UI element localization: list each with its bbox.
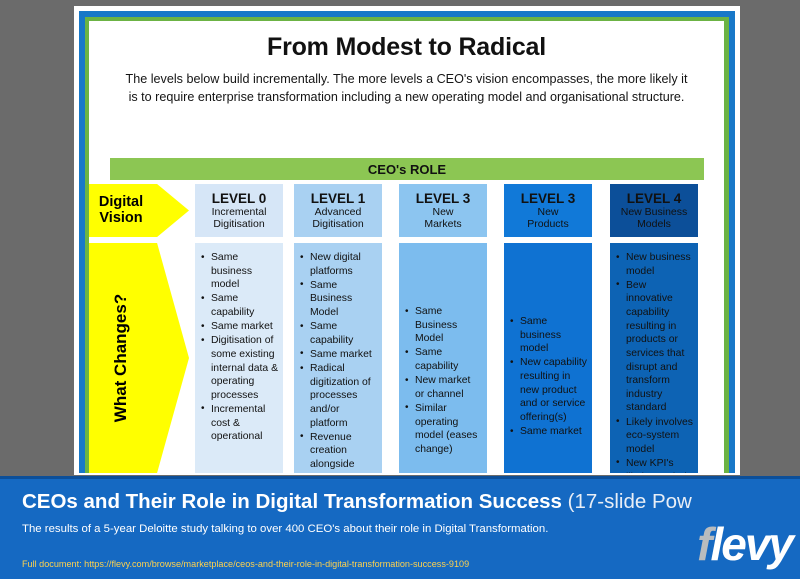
banner-title-suffix: (17-slide Pow [562, 490, 692, 513]
level-header-name-line2: Models [637, 218, 671, 230]
bullet-item: Bew innovative capability resulting in p… [615, 279, 693, 415]
what-changes-arrow: What Changes? [89, 243, 189, 473]
level-header-title: LEVEL 3 [416, 191, 471, 207]
bullet-item: Same Business Model [404, 305, 482, 346]
bullet-item: Same market [509, 425, 587, 439]
bullet-item: New digital platforms [299, 251, 377, 278]
bullet-item: Same market [299, 348, 377, 362]
level-header-name-line1: New [537, 206, 558, 218]
what-changes-label: What Changes? [111, 294, 131, 422]
levels-header-row: Digital Vision LEVEL 0IncrementalDigitis… [89, 184, 724, 243]
level-header-name-line1: Incremental [212, 206, 267, 218]
bullet-item: Similar operating model (eases change) [404, 402, 482, 457]
flevy-banner: CEOs and Their Role in Digital Transform… [0, 476, 800, 579]
bullet-item: Same capability [404, 346, 482, 373]
bullet-list: New digital platformsSame Business Model… [299, 251, 377, 473]
bullet-item: Same business model [509, 315, 587, 356]
bullet-item: Incremental cost & operational [200, 403, 278, 444]
banner-title: CEOs and Their Role in Digital Transform… [22, 490, 692, 514]
slide-content: From Modest to Radical The levels below … [89, 21, 724, 473]
level-header-name-line2: Digitisation [312, 218, 363, 230]
level-header-name-line1: New [432, 206, 453, 218]
level-header-title: LEVEL 1 [311, 191, 366, 207]
bullet-item: Same capability [299, 320, 377, 347]
level-header-title: LEVEL 0 [212, 191, 267, 207]
bullet-item: Likely involves eco-system model [615, 416, 693, 457]
digital-vision-arrow: Digital Vision [89, 184, 189, 237]
level-header-name-line1: New Business [621, 206, 688, 218]
level-bullets-1: New digital platformsSame Business Model… [294, 243, 382, 473]
bullet-item: Radical digitization of processes and/or… [299, 362, 377, 430]
level-header-0: LEVEL 0IncrementalDigitisation [195, 184, 283, 237]
banner-title-main: CEOs and Their Role in Digital Transform… [22, 490, 562, 513]
digital-vision-label-line1: Digital [99, 195, 143, 211]
slide-title: From Modest to Radical [89, 33, 724, 62]
ceo-role-bar: CEO's ROLE [110, 158, 704, 180]
level-header-name-line2: Digitisation [213, 218, 264, 230]
bullet-list: Same business modelNew capability result… [509, 315, 587, 439]
level-header-2: LEVEL 3NewMarkets [399, 184, 487, 237]
what-changes-row: What Changes? Same business modelSame ca… [89, 243, 724, 473]
bullet-item: New KPI's likely needed [615, 457, 693, 473]
bullet-item: New business model [615, 251, 693, 278]
level-header-3: LEVEL 3NewProducts [504, 184, 592, 237]
slide-subtitle: The levels below build incrementally. Th… [123, 71, 690, 107]
level-header-1: LEVEL 1AdvancedDigitisation [294, 184, 382, 237]
banner-url[interactable]: Full document: https://flevy.com/browse/… [22, 559, 469, 569]
levels-grid: Digital Vision LEVEL 0IncrementalDigitis… [89, 184, 724, 473]
level-header-name-line2: Products [527, 218, 568, 230]
level-bullets-0: Same business modelSame capabilitySame m… [195, 243, 283, 473]
screenshot-root: From Modest to Radical The levels below … [0, 0, 800, 579]
flevy-logo-rest: levy [710, 518, 792, 570]
level-bullets-3: Same business modelNew capability result… [504, 243, 592, 473]
flevy-logo-f: f [697, 518, 710, 570]
level-header-name-line2: Markets [424, 218, 461, 230]
level-header-4: LEVEL 4New BusinessModels [610, 184, 698, 237]
bullet-item: Digitisation of some existing internal d… [200, 334, 278, 402]
flevy-logo: flevy [697, 521, 792, 567]
level-header-name-line1: Advanced [315, 206, 362, 218]
bullet-item: Same business model [200, 251, 278, 292]
bullet-item: New market or channel [404, 374, 482, 401]
level-header-title: LEVEL 3 [521, 191, 576, 207]
banner-description: The results of a 5-year Deloitte study t… [22, 521, 582, 537]
bullet-item: Same Business Model [299, 279, 377, 320]
level-bullets-4: New business modelBew innovative capabil… [610, 243, 698, 473]
bullet-item: Same capability [200, 292, 278, 319]
bullet-list: Same business modelSame capabilitySame m… [200, 251, 278, 444]
level-bullets-2: Same Business ModelSame capabilityNew ma… [399, 243, 487, 473]
digital-vision-label-line2: Vision [99, 211, 143, 227]
bullet-list: New business modelBew innovative capabil… [615, 251, 693, 473]
bullet-item: New capability resulting in new product … [509, 356, 587, 424]
bullet-item: Same market [200, 320, 278, 334]
bullet-item: Revenue creation alongside radical [299, 431, 377, 473]
bullet-list: Same Business ModelSame capabilityNew ma… [404, 305, 482, 456]
level-header-title: LEVEL 4 [627, 191, 682, 207]
